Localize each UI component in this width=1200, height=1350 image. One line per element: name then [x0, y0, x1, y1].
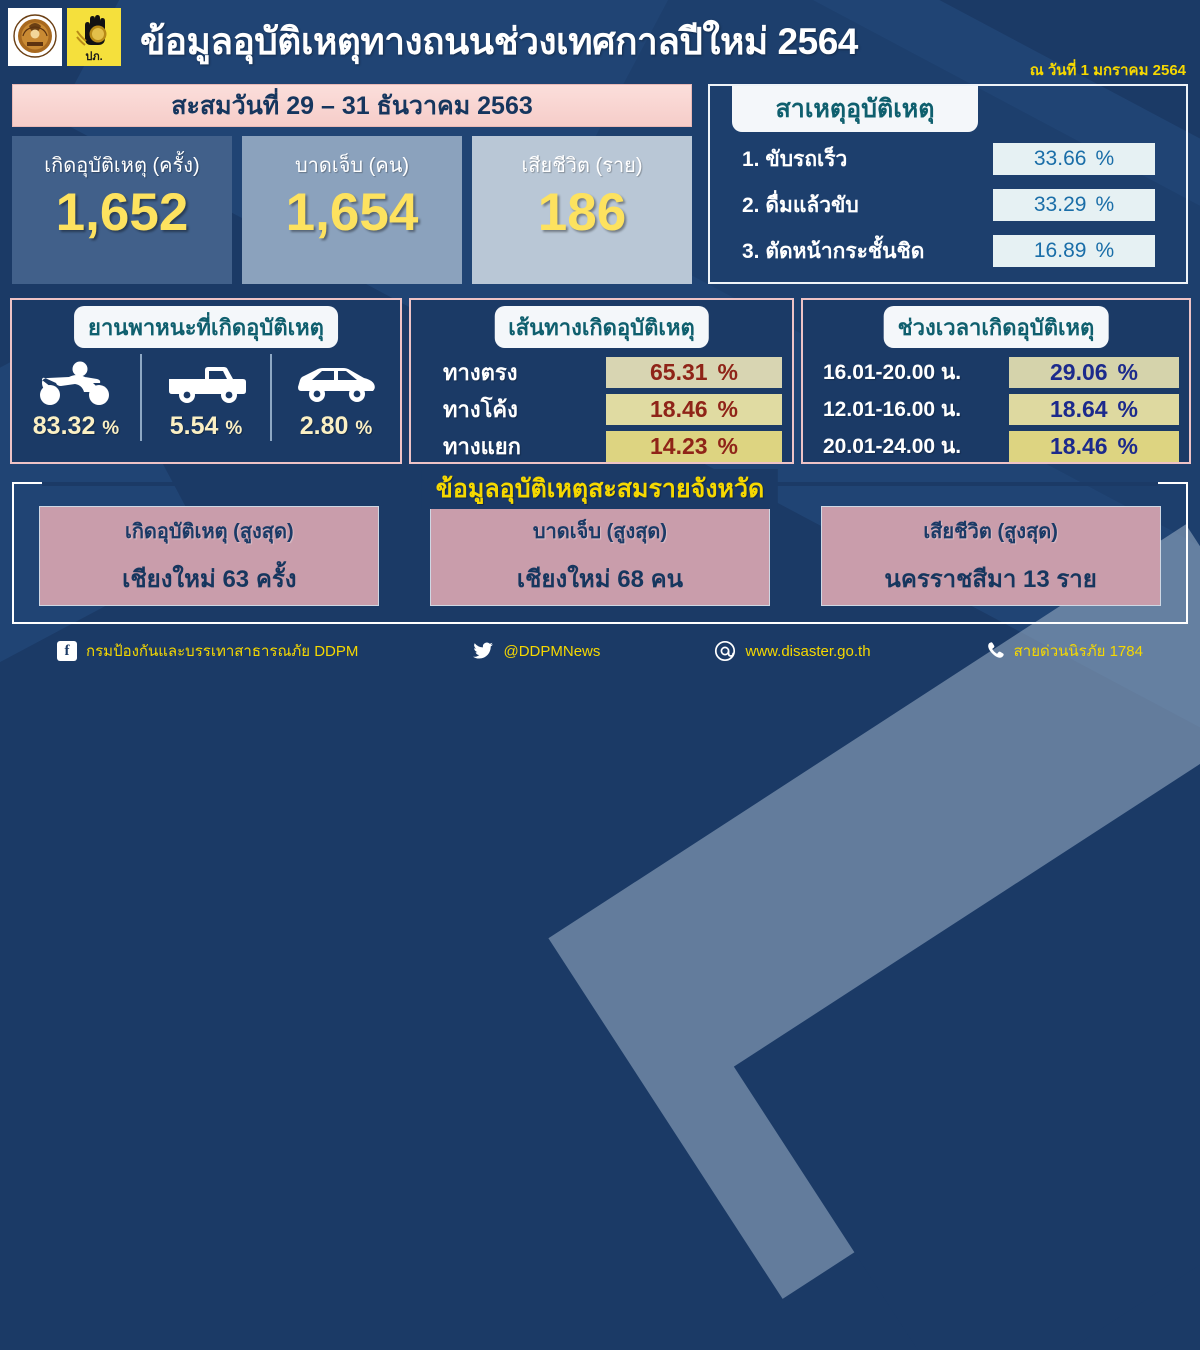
percent-unit: % [718, 433, 738, 460]
percent-unit: % [102, 418, 119, 439]
stat-label: บาดเจ็บ (คน) [295, 149, 409, 181]
route-value: 14.23 [650, 433, 708, 460]
time-value: 18.46 [1050, 433, 1108, 460]
time-panel: ช่วงเวลาเกิดอุบัติเหตุ 16.01-20.00 น. 29… [801, 298, 1191, 464]
time-value: 29.06 [1050, 359, 1108, 386]
footer-facebook-text: กรมป้องกันและบรรเทาสาธารณภัย DDPM [86, 639, 358, 663]
vehicle-percent: 5.54 [170, 412, 219, 440]
vehicle-item-motorcycle: 83.32 % [12, 354, 140, 441]
percent-unit: % [1095, 147, 1114, 171]
time-value-box: 18.64 % [1009, 394, 1179, 425]
stat-card-accidents: เกิดอุบัติเหตุ (ครั้ง) 1,652 [12, 136, 232, 284]
accumulation-banner: สะสมวันที่ 29 – 31 ธันวาคม 2563 [12, 84, 692, 127]
percent-unit: % [1118, 359, 1138, 386]
phone-icon[interactable] [985, 641, 1005, 661]
route-value-box: 14.23 % [606, 431, 782, 462]
route-value: 18.46 [650, 396, 708, 423]
route-row: ทางโค้ง 18.46 % [421, 391, 782, 427]
vehicle-item-pickup: 5.54 % [140, 354, 270, 441]
cause-value-box: 33.29 % [993, 189, 1155, 221]
cause-row: 2. ดื่มแล้วขับ 33.29 % [728, 184, 1172, 226]
at-sign-icon[interactable] [714, 640, 736, 662]
time-value-box: 18.46 % [1009, 431, 1179, 462]
provinces-section-title: ข้อมูลอุบัติเหตุสะสมรายจังหวัด [422, 469, 778, 509]
footer-item-twitter[interactable]: @DDPMNews [472, 642, 600, 660]
percent-unit: % [1095, 193, 1114, 217]
vehicle-item-car: 2.80 % [270, 354, 400, 441]
footer-item-website[interactable]: www.disaster.go.th [714, 640, 870, 662]
routes-panel: เส้นทางเกิดอุบัติเหตุ ทางตรง 65.31 % ทาง… [409, 298, 794, 464]
footer-hotline-text: สายด่วนนิรภัย 1784 [1014, 639, 1143, 663]
footer-twitter-text: @DDPMNews [503, 643, 600, 660]
route-value-box: 65.31 % [606, 357, 782, 388]
seal-emblem-icon [12, 12, 58, 62]
time-value-box: 29.06 % [1009, 357, 1179, 388]
cause-name: 1. ขับรถเร็ว [728, 143, 993, 176]
provinces-card-group: เกิดอุบัติเหตุ (สูงสุด) เชียงใหม่ 63 ครั… [14, 506, 1186, 606]
cause-value: 16.89 [1034, 239, 1087, 263]
stat-value: 1,654 [286, 185, 419, 241]
causes-list: 1. ขับรถเร็ว 33.66 % 2. ดื่มแล้วขับ 33.2… [728, 138, 1172, 276]
province-card-title: เกิดอุบัติเหตุ (สูงสุด) [125, 515, 294, 547]
province-card-value: นครราชสีมา 13 ราย [884, 559, 1096, 598]
stat-value: 1,652 [56, 185, 189, 241]
routes-panel-title: เส้นทางเกิดอุบัติเหตุ [494, 306, 708, 348]
route-value-box: 18.46 % [606, 394, 782, 425]
time-row: 20.01-24.00 น. 18.46 % [813, 428, 1179, 464]
vehicles-panel-title: ยานพาหนะที่เกิดอุบัติเหตุ [74, 306, 338, 348]
ddpm-seal-logo [8, 8, 62, 66]
province-card-title: บาดเจ็บ (สูงสุด) [533, 515, 667, 547]
cause-value-box: 33.66 % [993, 143, 1155, 175]
percent-unit: % [1118, 433, 1138, 460]
route-value: 65.31 [650, 359, 708, 386]
provinces-section: ข้อมูลอุบัติเหตุสะสมรายจังหวัด เกิดอุบัต… [12, 482, 1188, 624]
time-range: 20.01-24.00 น. [813, 430, 1009, 463]
percent-unit: % [1118, 396, 1138, 423]
footer-item-facebook[interactable]: f กรมป้องกันและบรรเทาสาธารณภัย DDPM [57, 639, 358, 663]
hand-shield-icon [71, 11, 117, 51]
vehicle-percent: 83.32 [33, 412, 96, 440]
province-card-title: เสียชีวิต (สูงสุด) [923, 515, 1058, 547]
pickup-truck-icon [163, 356, 249, 410]
cause-value: 33.66 [1034, 147, 1087, 171]
cause-name: 3. ตัดหน้ากระชั้นชิด [728, 235, 993, 268]
routes-list: ทางตรง 65.31 % ทางโค้ง 18.46 % ทางแยก [421, 354, 782, 465]
infographic-root: ปภ. ข้อมูลอุบัติเหตุทางถนนช่วงเทศกาลปีให… [0, 0, 1200, 675]
vehicle-percent-wrap: 5.54 % [170, 412, 243, 441]
time-value: 18.64 [1050, 396, 1108, 423]
percent-unit: % [225, 418, 242, 439]
stat-card-deaths: เสียชีวิต (ราย) 186 [472, 136, 692, 284]
as-of-date: ณ วันที่ 1 มกราคม 2564 [1030, 58, 1186, 82]
cause-row: 1. ขับรถเร็ว 33.66 % [728, 138, 1172, 180]
porpor-logo-label: ปภ. [85, 52, 102, 63]
middle-panels-row: ยานพาหนะที่เกิดอุบัติเหตุ 83.32 [10, 298, 1191, 464]
accumulation-banner-text: สะสมวันที่ 29 – 31 ธันวาคม 2563 [171, 86, 533, 126]
stat-value: 186 [538, 185, 626, 241]
footer-website-text: www.disaster.go.th [745, 643, 870, 660]
vehicle-percent-wrap: 83.32 % [33, 412, 119, 441]
page-footer: f กรมป้องกันและบรรเทาสาธารณภัย DDPM @DDP… [0, 627, 1200, 675]
twitter-icon[interactable] [472, 642, 494, 660]
percent-unit: % [718, 359, 738, 386]
vehicle-percent-wrap: 2.80 % [300, 412, 373, 441]
province-card-value: เชียงใหม่ 63 ครั้ง [122, 559, 296, 598]
motorcycle-icon [33, 356, 119, 410]
cause-name: 2. ดื่มแล้วขับ [728, 189, 993, 222]
facebook-icon[interactable]: f [57, 641, 77, 661]
causes-panel: สาเหตุอุบัติเหตุ 1. ขับรถเร็ว 33.66 % 2.… [708, 84, 1188, 284]
vehicles-panel: ยานพาหนะที่เกิดอุบัติเหตุ 83.32 [10, 298, 402, 464]
vehicle-percent: 2.80 [300, 412, 349, 440]
route-row: ทางแยก 14.23 % [421, 428, 782, 464]
cause-value-box: 16.89 % [993, 235, 1155, 267]
time-panel-title: ช่วงเวลาเกิดอุบัติเหตุ [884, 306, 1109, 348]
province-card-value: เชียงใหม่ 68 คน [517, 559, 683, 598]
province-card-injured: บาดเจ็บ (สูงสุด) เชียงใหม่ 68 คน [430, 506, 770, 606]
page-title: ข้อมูลอุบัติเหตุทางถนนช่วงเทศกาลปีใหม่ 2… [140, 12, 858, 71]
route-row: ทางตรง 65.31 % [421, 354, 782, 390]
time-range: 16.01-20.00 น. [813, 356, 1009, 389]
time-row: 12.01-16.00 น. 18.64 % [813, 391, 1179, 427]
time-range: 12.01-16.00 น. [813, 393, 1009, 426]
time-row: 16.01-20.00 น. 29.06 % [813, 354, 1179, 390]
province-card-deaths: เสียชีวิต (สูงสุด) นครราชสีมา 13 ราย [821, 506, 1161, 606]
time-list: 16.01-20.00 น. 29.06 % 12.01-16.00 น. 18… [813, 354, 1179, 465]
route-name: ทางโค้ง [421, 392, 606, 427]
cause-value: 33.29 [1034, 193, 1087, 217]
cause-row: 3. ตัดหน้ากระชั้นชิด 16.89 % [728, 230, 1172, 272]
causes-panel-title: สาเหตุอุบัติเหตุ [732, 86, 978, 132]
porpor-hand-logo: ปภ. [67, 8, 121, 66]
route-name: ทางตรง [421, 355, 606, 390]
vehicles-list: 83.32 % [12, 354, 400, 462]
stat-card-injured: บาดเจ็บ (คน) 1,654 [242, 136, 462, 284]
route-name: ทางแยก [421, 429, 606, 464]
footer-item-hotline[interactable]: สายด่วนนิรภัย 1784 [985, 639, 1143, 663]
car-icon [293, 356, 379, 410]
summary-stats-group: เกิดอุบัติเหตุ (ครั้ง) 1,652 บาดเจ็บ (คน… [12, 136, 692, 284]
percent-unit: % [718, 396, 738, 423]
province-card-accidents: เกิดอุบัติเหตุ (สูงสุด) เชียงใหม่ 63 ครั… [39, 506, 379, 606]
stat-label: เสียชีวิต (ราย) [521, 149, 642, 181]
page-header: ปภ. ข้อมูลอุบัติเหตุทางถนนช่วงเทศกาลปีให… [0, 0, 1200, 82]
logo-group: ปภ. [8, 8, 121, 66]
percent-unit: % [1095, 239, 1114, 263]
stat-label: เกิดอุบัติเหตุ (ครั้ง) [44, 149, 199, 181]
percent-unit: % [355, 418, 372, 439]
